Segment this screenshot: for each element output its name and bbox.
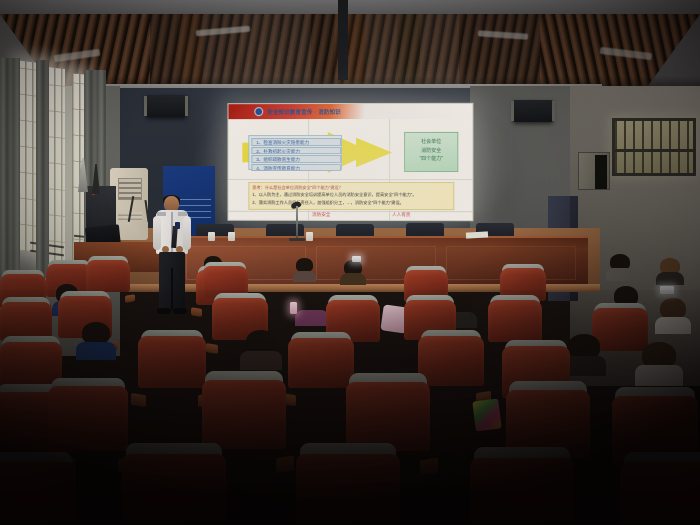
seat-armrest-left <box>206 343 218 354</box>
person-body <box>635 365 683 386</box>
seat-back <box>346 382 430 451</box>
presentation-slide: 安全知识教育宣传 · 消防知识 1、检查消除火灾隐患能力 2、扑救初起火灾能力 … <box>228 104 472 220</box>
auditorium-seat[interactable] <box>296 454 400 525</box>
auditorium-seat[interactable] <box>620 462 700 525</box>
microphone-base <box>289 238 305 241</box>
raised-phone-camera <box>660 286 674 294</box>
auditorium-seat[interactable] <box>470 458 574 525</box>
slide-header-title: 安全知识教育宣传 · 消防知识 <box>267 108 341 116</box>
person-body <box>293 271 317 283</box>
person-body <box>240 351 282 370</box>
person-head <box>300 292 324 312</box>
microphone-stand <box>296 206 298 240</box>
auditorium-seat[interactable] <box>0 462 76 525</box>
left-window-2-grille <box>47 67 65 269</box>
capability-item-4: 4、消防宣传教育能力 <box>251 163 341 171</box>
auditorium-seat[interactable] <box>122 454 226 525</box>
seat-back <box>0 462 76 525</box>
auditorium-seat[interactable] <box>138 336 206 408</box>
person-head <box>660 298 686 319</box>
footer-label-2: 人人有责 <box>392 212 410 218</box>
documents-on-table <box>466 231 488 238</box>
audience-person-near-4 <box>642 342 676 384</box>
person-body <box>655 317 691 334</box>
seat-back <box>488 300 542 342</box>
seat-back <box>296 454 400 525</box>
glowing-phone-screen <box>290 302 297 314</box>
loudspeaker-left <box>146 95 186 117</box>
slide-gridline-h1 <box>228 179 472 180</box>
seat-back <box>418 336 484 386</box>
audience-person-mid-5 <box>660 298 686 332</box>
water-cup-1 <box>208 232 215 241</box>
audience-seating <box>0 250 700 525</box>
audience-person-near-1 <box>82 322 110 358</box>
seat-back <box>0 302 52 341</box>
seat-back <box>620 462 700 525</box>
audience-person-far-3 <box>344 260 362 284</box>
slide-footer-labels: 消防安全 人人有责 <box>228 212 472 220</box>
seat-back <box>470 458 574 525</box>
seat-back <box>122 454 226 525</box>
seat-back <box>138 336 206 388</box>
outcome-box: 社会单位 消防安全 "四个能力" <box>404 132 458 172</box>
seat-back <box>288 338 354 388</box>
person-body <box>340 273 365 285</box>
audience-person-near-2 <box>246 330 276 368</box>
presenter-arm-left <box>153 216 161 250</box>
seat-back <box>592 308 648 351</box>
colorful-snack-bag <box>472 399 501 432</box>
capability-item-3: 3、组织疏散逃生能力 <box>251 155 341 162</box>
capability-items-box: 1、检查消除火灾隐患能力 2、扑救初起火灾能力 3、组织疏散逃生能力 4、消防宣… <box>248 135 342 170</box>
question-line-2: 2、落实消防工作人员目标责任人，加强组织分工，…，消防安全"四个能力"建设。 <box>252 198 450 206</box>
person-body <box>295 310 329 326</box>
water-cup-2 <box>228 232 235 241</box>
seat-back <box>48 386 128 451</box>
seat-armrest-left <box>191 308 202 317</box>
capability-item-1: 1、检查消除火灾隐患能力 <box>251 138 341 146</box>
seat-back <box>202 380 286 449</box>
auditorium-seat[interactable] <box>288 338 354 408</box>
person-body <box>656 272 684 285</box>
slide-emblem-icon <box>254 107 263 116</box>
yellow-arrow-head <box>356 132 392 173</box>
curtain-mid-left <box>36 60 49 278</box>
outcome-line-2: 消防安全 <box>405 146 457 155</box>
audience-person-near-3 <box>568 334 600 374</box>
audience-person-far-4 <box>610 254 630 280</box>
outcome-line-1: 社会单位 <box>405 138 457 147</box>
outcome-line-3: "四个能力" <box>405 155 457 164</box>
person-head <box>82 322 110 344</box>
person-body <box>606 268 634 281</box>
raised-phone-camera <box>352 256 361 262</box>
question-line-1: 1、以人防为主，通过消防安全培训提高单位人员的消防安全意识，提高安全"四个能力"… <box>252 191 450 199</box>
audience-person-far-5 <box>660 258 680 284</box>
seat-armrest-right <box>125 294 135 303</box>
water-cup-3 <box>306 232 313 241</box>
slide-header-band <box>228 104 472 119</box>
ceiling-soffit <box>0 0 700 14</box>
question-block: 思考：什么是社会单位消防安全"四个能力"建设？ 1、以人防为主，通过消防安全培训… <box>248 182 454 210</box>
audience-person-far-2 <box>296 258 313 281</box>
seat-armrest-left <box>131 392 146 406</box>
footer-label-1: 消防安全 <box>312 212 330 218</box>
seat-armrest-right <box>276 455 294 473</box>
auditorium-photo: 安全知识教育宣传 · 消防知识 1、检查消除火灾隐患能力 2、扑救初起火灾能力 … <box>0 0 700 525</box>
ceiling-beam-center <box>338 0 348 80</box>
capability-item-2: 2、扑救初起火灾能力 <box>251 147 341 155</box>
seat-back <box>86 260 130 292</box>
seat-armrest-right <box>420 457 438 475</box>
projection-screen: 安全知识教育宣传 · 消防知识 1、检查消除火灾隐患能力 2、扑救初起火灾能力 … <box>228 104 472 220</box>
loudspeaker-right <box>513 100 553 122</box>
air-conditioner-vent <box>118 178 142 200</box>
presenter-arm-right <box>183 216 191 250</box>
person-body <box>76 342 115 360</box>
audience-person-mid-2 <box>300 292 324 324</box>
